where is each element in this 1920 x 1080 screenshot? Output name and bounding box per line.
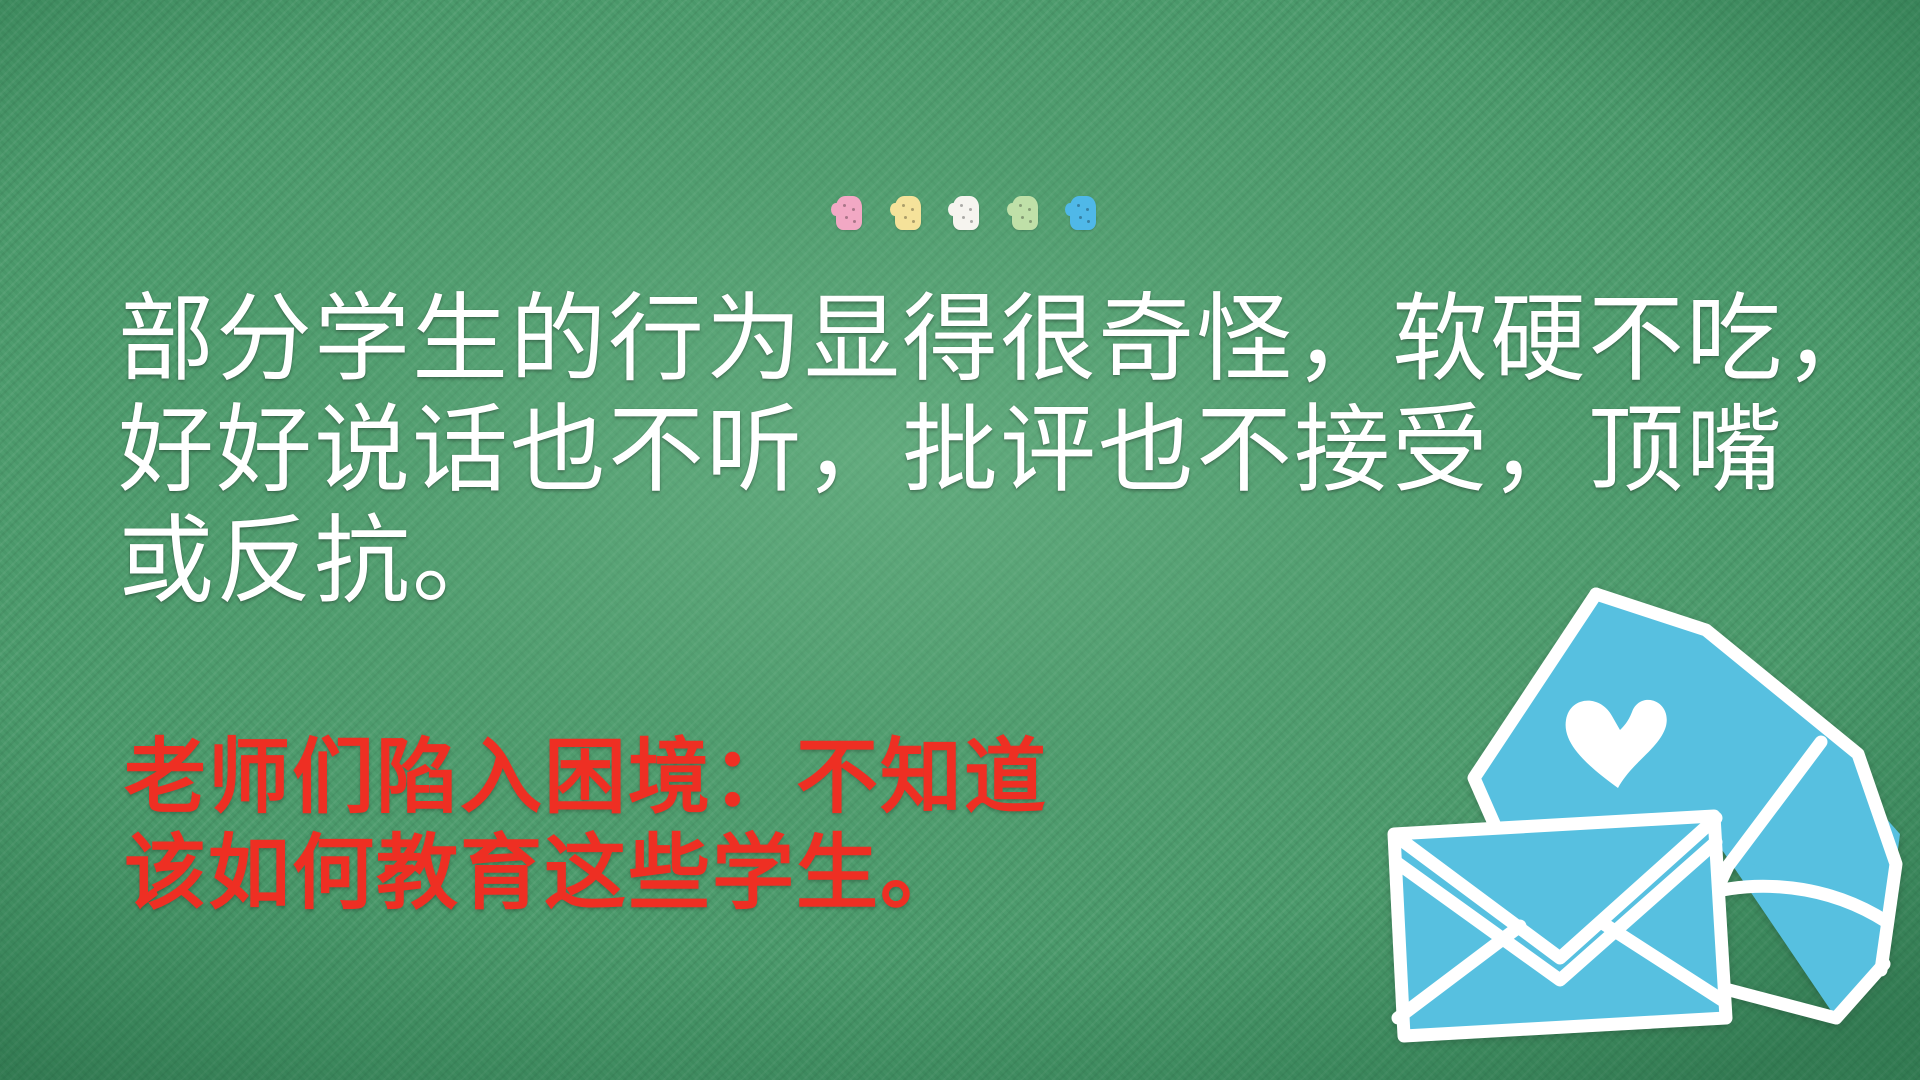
body-line-3: 或反抗。 [118,506,1858,617]
bread-slice-icon-green [1012,196,1038,230]
slide-canvas: 部分学生的行为显得很奇怪，软硬不吃， 好好说话也不听，批评也不接受，顶嘴 或反抗… [0,0,1920,1080]
accent-line-1: 老师们陷入困境：不知道 [124,730,1324,826]
bread-slice-icon-yellow [895,196,921,230]
accent-paragraph: 老师们陷入困境：不知道 该如何教育这些学生。 [124,730,1324,922]
token-dots [953,196,979,230]
token-dots [836,196,862,230]
letter-and-envelope-illustration [1384,566,1920,1080]
token-dots [1012,196,1038,230]
decorative-token-row [836,196,1096,230]
bread-slice-icon-blue [1070,196,1096,230]
body-line-1: 部分学生的行为显得很奇怪，软硬不吃， [118,284,1858,395]
front-envelope-group [1394,816,1726,1036]
token-dots [895,196,921,230]
bread-slice-icon-pink [836,196,862,230]
body-line-2: 好好说话也不听，批评也不接受，顶嘴 [118,395,1858,506]
accent-line-2: 该如何教育这些学生。 [124,826,1324,922]
token-dots [1070,196,1096,230]
body-paragraph: 部分学生的行为显得很奇怪，软硬不吃， 好好说话也不听，批评也不接受，顶嘴 或反抗… [118,284,1858,617]
bread-slice-icon-white [953,196,979,230]
